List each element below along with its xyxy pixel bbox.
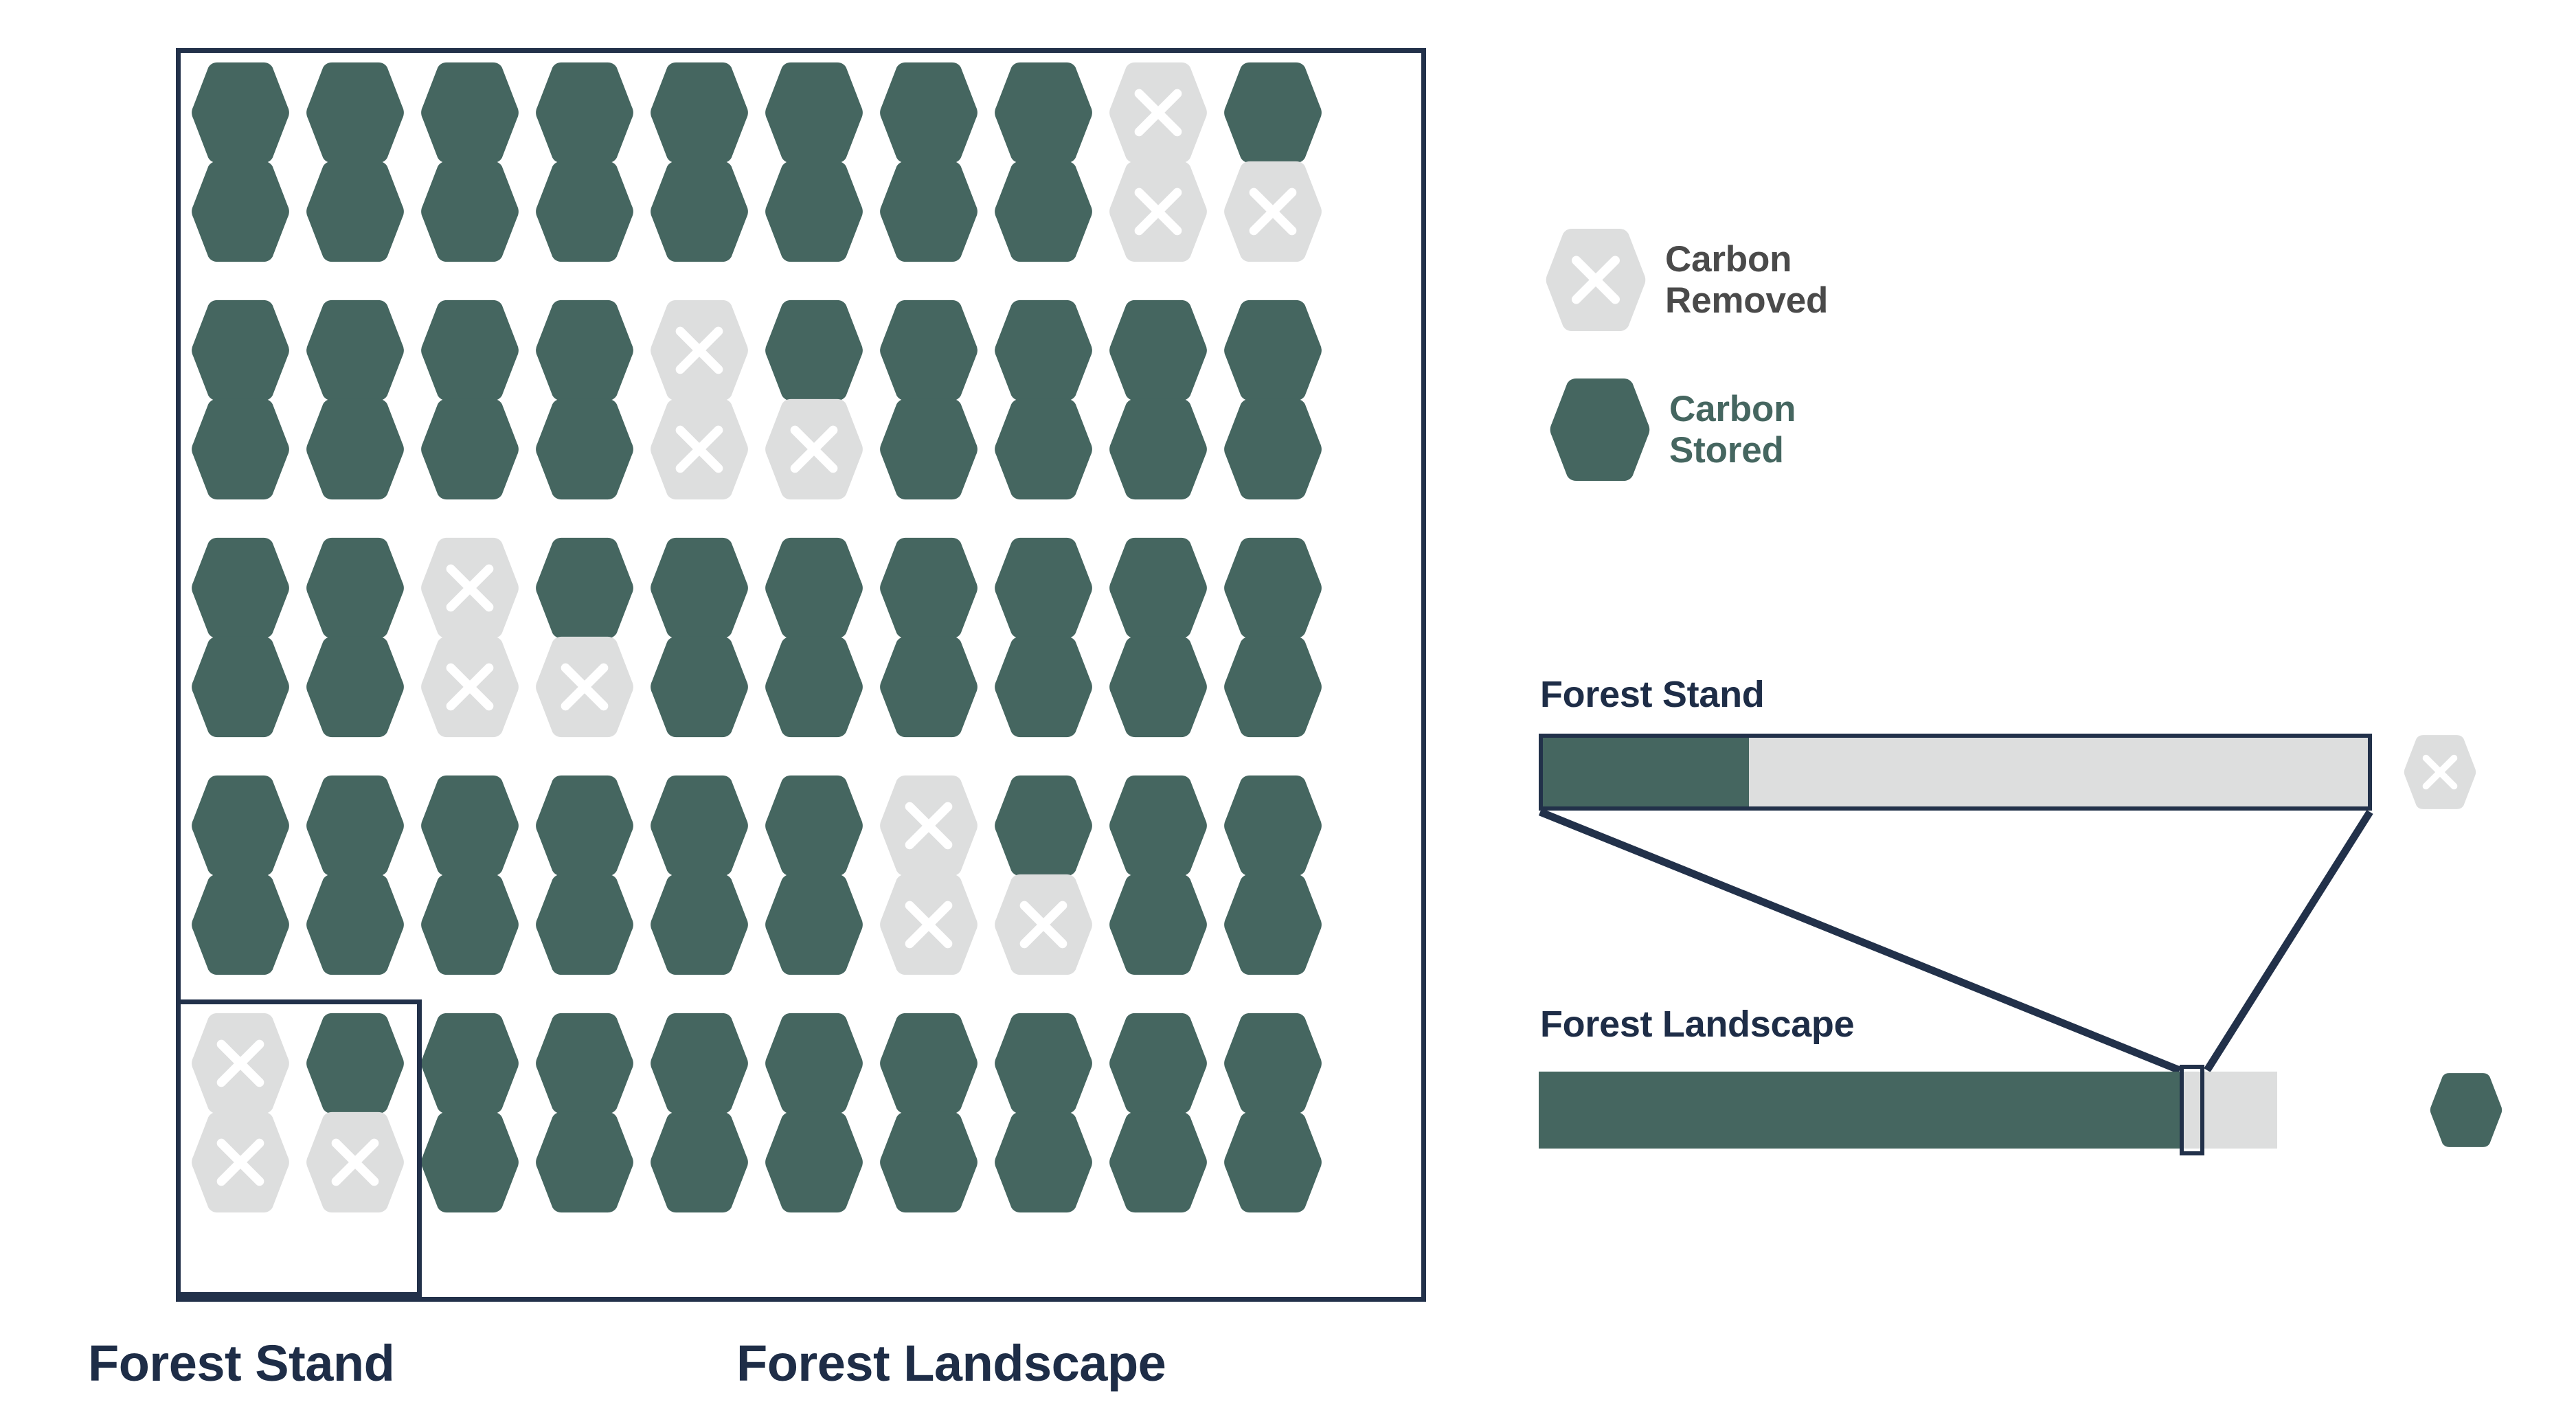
hexagon-x-icon: [1221, 159, 1325, 264]
hexagon-filled-icon: [303, 536, 407, 640]
hexagon-row: [176, 1110, 1426, 1214]
legend-item-carbon-stored[interactable]: Carbon Stored: [1548, 376, 1796, 483]
hexagon-filled-icon: [418, 60, 522, 165]
hexagon-filled-icon: [762, 1011, 866, 1116]
hexagon-filled-icon: [1221, 872, 1325, 977]
bar-title-forest-landscape: Forest Landscape: [1540, 1003, 1854, 1046]
hexagon-x-icon: [877, 773, 981, 878]
hexagon-filled-icon: [762, 872, 866, 977]
hexagon-filled-icon: [303, 635, 407, 739]
hexagon-filled-icon: [991, 397, 1096, 501]
hexagon-x-icon: [418, 635, 522, 739]
hexagon-filled-icon: [188, 298, 293, 403]
hexagon-filled-icon: [991, 635, 1096, 739]
hexagon-x-icon: [1106, 159, 1210, 264]
legend-item-carbon-removed[interactable]: Carbon Removed: [1544, 227, 1828, 333]
hexagon-filled-icon: [877, 159, 981, 264]
hexagon-filled-icon: [647, 1011, 752, 1116]
hexagon-filled-icon: [1106, 773, 1210, 878]
hexagon-x-icon: [647, 298, 752, 403]
infographic-stage: Forest Stand Forest Landscape Carbon Rem…: [0, 0, 2576, 1424]
hexagon-x-icon: [2403, 734, 2477, 811]
hexagon-x-icon: [1106, 60, 1210, 165]
hexagon-filled-icon: [762, 1110, 866, 1214]
hexagon-row: [176, 298, 1426, 403]
hexagon-filled-icon: [991, 536, 1096, 640]
hexagon-filled-icon: [991, 1011, 1096, 1116]
hexagon-filled-icon: [188, 60, 293, 165]
hexagon-row: [176, 635, 1426, 739]
landscape-highlight-slice: [2180, 1065, 2204, 1155]
hexagon-filled-icon: [991, 773, 1096, 878]
hexagon-filled-icon: [762, 635, 866, 739]
hexagon-filled-icon: [877, 397, 981, 501]
hexagon-filled-icon: [1106, 298, 1210, 403]
hexagon-x-icon: [418, 536, 522, 640]
hexagon-filled-icon: [303, 397, 407, 501]
hexagon-filled-icon: [418, 298, 522, 403]
bar-forest-landscape[interactable]: [1539, 1072, 2277, 1149]
hexagon-filled-icon: [991, 60, 1096, 165]
hexagon-filled-icon: [991, 1110, 1096, 1214]
hexagon-filled-icon: [532, 397, 637, 501]
hexagon-filled-icon: [762, 60, 866, 165]
hexagon-row: [176, 60, 1426, 165]
hexagon-filled-icon: [1221, 397, 1325, 501]
hexagon-filled-icon: [188, 635, 293, 739]
bar-forest-stand[interactable]: [1539, 734, 2372, 811]
hexagon-filled-icon: [532, 773, 637, 878]
legend-label-carbon-stored: Carbon Stored: [1669, 389, 1796, 471]
hexagon-filled-icon: [532, 536, 637, 640]
hexagon-filled-icon: [303, 159, 407, 264]
hexagon-x-icon: [1544, 227, 1647, 333]
legend-label-carbon-removed: Carbon Removed: [1665, 239, 1828, 321]
hexagon-x-icon: [991, 872, 1096, 977]
hexagon-filled-icon: [188, 159, 293, 264]
hexagon-filled-icon: [1106, 1011, 1210, 1116]
hexagon-row: [176, 397, 1426, 501]
hexagon-filled-icon: [647, 159, 752, 264]
hexagon-filled-icon: [877, 1110, 981, 1214]
hexagon-x-icon: [762, 397, 866, 501]
hexagon-filled-icon: [991, 298, 1096, 403]
hexagon-row: [176, 159, 1426, 264]
hexagon-filled-icon: [877, 298, 981, 403]
hexagon-filled-icon: [762, 773, 866, 878]
hexagon-x-icon: [303, 1110, 407, 1214]
hexagon-filled-icon: [1221, 60, 1325, 165]
hexagon-filled-icon: [418, 159, 522, 264]
hexagon-filled-icon: [1221, 635, 1325, 739]
hexagon-filled-icon: [1106, 397, 1210, 501]
hexagon-filled-icon: [188, 397, 293, 501]
hexagon-filled-icon: [647, 773, 752, 878]
hexagon-filled-icon: [418, 1011, 522, 1116]
hexagon-filled-icon: [1221, 773, 1325, 878]
hexagon-x-icon: [647, 397, 752, 501]
hexagon-filled-icon: [647, 635, 752, 739]
hexagon-filled-icon: [2429, 1072, 2503, 1149]
grid-caption-forest-stand: Forest Stand: [88, 1334, 394, 1392]
hexagon-filled-icon: [532, 60, 637, 165]
hexagon-filled-icon: [647, 872, 752, 977]
hexagon-filled-icon: [532, 298, 637, 403]
hexagon-filled-icon: [1106, 536, 1210, 640]
hexagon-filled-icon: [1106, 1110, 1210, 1214]
bar-segment-landscape-stored: [1539, 1072, 2181, 1149]
hexagon-filled-icon: [303, 872, 407, 977]
hexagon-filled-icon: [418, 773, 522, 878]
bar-segment-stand-removed: [1749, 738, 2368, 806]
hexagon-x-icon: [188, 1110, 293, 1214]
bars-panel: Forest Stand Forest Landscape: [1539, 673, 2555, 1223]
hexagon-filled-icon: [877, 1011, 981, 1116]
hexagon-filled-icon: [303, 60, 407, 165]
bar-segment-stand-stored: [1543, 738, 1749, 806]
hexagon-grid-panel: [176, 48, 1426, 1302]
grid-caption-forest-landscape: Forest Landscape: [736, 1334, 1166, 1392]
hexagon-filled-icon: [1548, 376, 1651, 483]
hexagon-filled-icon: [188, 773, 293, 878]
hexagon-filled-icon: [877, 60, 981, 165]
hexagon-filled-icon: [647, 60, 752, 165]
hexagon-filled-icon: [1106, 872, 1210, 977]
hexagon-x-icon: [188, 1011, 293, 1116]
hexagon-filled-icon: [1106, 635, 1210, 739]
hexagon-filled-icon: [303, 1011, 407, 1116]
hexagon-row: [176, 872, 1426, 977]
hexagon-x-icon: [532, 635, 637, 739]
hexagon-x-icon: [877, 872, 981, 977]
hexagon-filled-icon: [877, 536, 981, 640]
hexagon-filled-icon: [188, 536, 293, 640]
hexagon-filled-icon: [991, 159, 1096, 264]
hexagon-filled-icon: [303, 298, 407, 403]
hexagon-grid: [176, 48, 1426, 1302]
hexagon-filled-icon: [188, 872, 293, 977]
hexagon-filled-icon: [532, 159, 637, 264]
hexagon-filled-icon: [532, 1011, 637, 1116]
hexagon-filled-icon: [647, 536, 752, 640]
hexagon-filled-icon: [532, 872, 637, 977]
hexagon-filled-icon: [877, 635, 981, 739]
hexagon-filled-icon: [762, 298, 866, 403]
hexagon-filled-icon: [1221, 298, 1325, 403]
hexagon-row: [176, 773, 1426, 878]
bar-title-forest-stand: Forest Stand: [1540, 673, 1764, 716]
hexagon-filled-icon: [1221, 1110, 1325, 1214]
hexagon-filled-icon: [532, 1110, 637, 1214]
hexagon-filled-icon: [647, 1110, 752, 1214]
hexagon-filled-icon: [418, 397, 522, 501]
hexagon-filled-icon: [1221, 536, 1325, 640]
hexagon-filled-icon: [762, 159, 866, 264]
hexagon-row: [176, 1011, 1426, 1116]
hexagon-filled-icon: [303, 773, 407, 878]
hexagon-filled-icon: [418, 1110, 522, 1214]
hexagon-filled-icon: [762, 536, 866, 640]
hexagon-filled-icon: [418, 872, 522, 977]
hexagon-row: [176, 536, 1426, 640]
hexagon-filled-icon: [1221, 1011, 1325, 1116]
